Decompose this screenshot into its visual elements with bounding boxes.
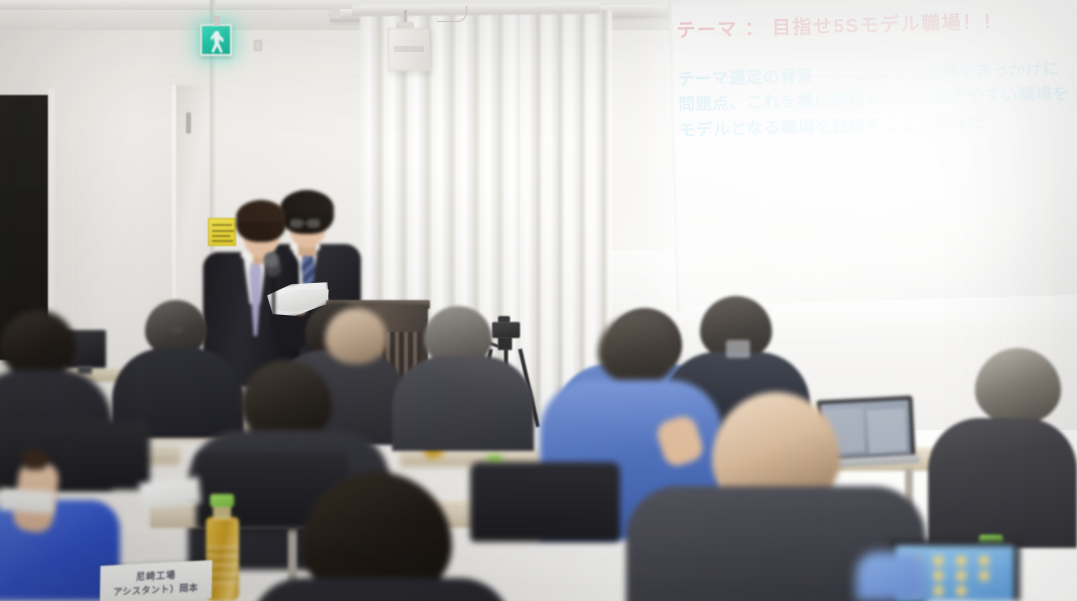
ceiling-mount <box>330 8 340 18</box>
glasses-bridge <box>303 222 308 224</box>
slide-content: テーマ ： 目指せ5Sモデル職場！！ テーマ選定の背景 ： コンサル指導をきっか… <box>676 5 1077 176</box>
wall-switch[interactable] <box>254 40 262 51</box>
video-camera-icon <box>492 322 520 338</box>
glasses-icon-right <box>307 219 320 228</box>
ceiling-wire <box>437 6 467 22</box>
attendee-foreground-right-arm <box>856 552 926 601</box>
ceiling-track-left <box>0 0 360 10</box>
far-monitor-stand <box>78 366 92 374</box>
seminar-room-photo: テーマ ： 目指せ5Sモデル職場！！ テーマ選定の背景 ： コンサル指導をきっか… <box>0 0 1077 601</box>
glasses-icon-left <box>290 219 303 228</box>
yellow-notice-sign <box>208 218 236 246</box>
chair-right <box>470 462 620 542</box>
microphone-stand <box>272 270 275 330</box>
papers-on-table-far-left <box>0 488 55 514</box>
exit-sign-mount <box>214 16 220 25</box>
table-foreground-leg <box>288 526 297 586</box>
nameplate-card: 尼崎工場 アシスタント）岡本 <box>100 560 213 601</box>
speaker-label <box>394 46 424 52</box>
door-handle-icon[interactable] <box>186 112 191 134</box>
running-person-icon <box>210 31 224 53</box>
emergency-exit-sign <box>200 24 232 56</box>
